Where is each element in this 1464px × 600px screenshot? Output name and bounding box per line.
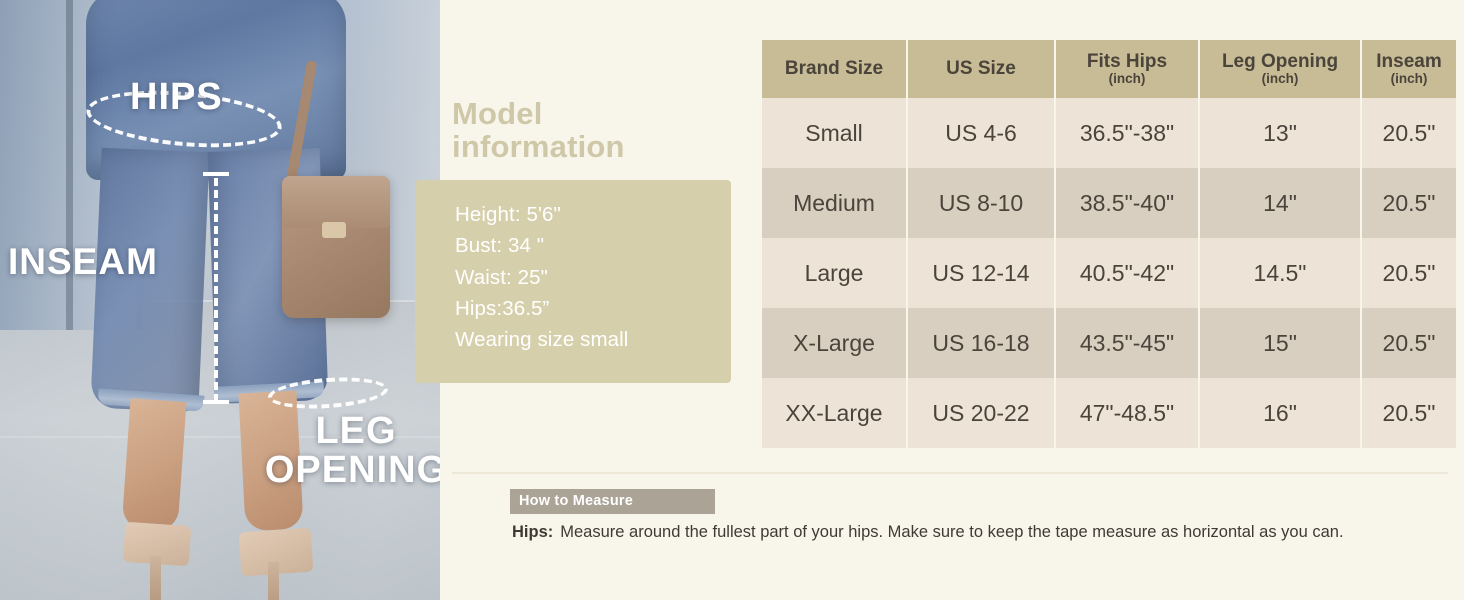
cell-inseam: 20.5": [1362, 308, 1456, 378]
hips-overlay-label: HIPS: [130, 78, 223, 117]
model-photo: HIPS INSEAM LEG OPENING: [0, 0, 440, 600]
how-to-measure-instruction: Hips:Measure around the fullest part of …: [512, 523, 1344, 542]
column-header-unit: (inch): [1202, 72, 1358, 87]
cell-us-size: US 8-10: [908, 168, 1054, 238]
model-detail-wearing-size: Wearing size small: [455, 324, 628, 355]
left-heel: [150, 556, 161, 600]
cell-fits-hips: 38.5"-40": [1056, 168, 1198, 238]
table-row: XX-Large US 20-22 47"-48.5" 16" 20.5": [762, 378, 1456, 448]
column-header-unit: (inch): [1364, 72, 1454, 87]
measure-label-hips: Hips:: [512, 523, 553, 541]
cell-us-size: US 16-18: [908, 308, 1054, 378]
model-detail-waist: Waist: 25": [455, 262, 628, 293]
leg-opening-overlay-label: LEG OPENING: [256, 412, 440, 490]
column-header-unit: (inch): [1058, 72, 1196, 87]
model-detail-bust: Bust: 34 ": [455, 230, 628, 261]
size-table: Brand Size US Size Fits Hips (inch) Leg …: [760, 40, 1458, 448]
model-detail-height: Height: 5'6": [455, 199, 628, 230]
model-information-list: Height: 5'6" Bust: 34 " Waist: 25" Hips:…: [455, 199, 628, 356]
model-information-heading: Model information: [452, 97, 712, 164]
table-row: Large US 12-14 40.5"-42" 14.5" 20.5": [762, 238, 1456, 308]
inseam-line-top-cap: [203, 172, 229, 176]
table-row: Medium US 8-10 38.5"-40" 14" 20.5": [762, 168, 1456, 238]
handbag-buckle: [322, 222, 346, 238]
cell-brand-size: Small: [762, 98, 906, 168]
column-header-title: Inseam: [1376, 51, 1441, 72]
cell-leg-opening: 14.5": [1200, 238, 1360, 308]
column-header-us-size: US Size: [908, 40, 1054, 98]
cell-leg-opening: 15": [1200, 308, 1360, 378]
cell-inseam: 20.5": [1362, 378, 1456, 448]
cell-leg-opening: 16": [1200, 378, 1360, 448]
handbag-flap: [282, 176, 390, 228]
cell-brand-size: Large: [762, 238, 906, 308]
cell-us-size: US 20-22: [908, 378, 1054, 448]
column-header-title: Fits Hips: [1087, 51, 1167, 72]
cell-inseam: 20.5": [1362, 98, 1456, 168]
column-header-fits-hips: Fits Hips (inch): [1056, 40, 1198, 98]
column-header-title: US Size: [946, 58, 1016, 79]
column-header-leg-opening: Leg Opening (inch): [1200, 40, 1360, 98]
table-row: X-Large US 16-18 43.5"-45" 15" 20.5": [762, 308, 1456, 378]
cell-us-size: US 12-14: [908, 238, 1054, 308]
inseam-overlay-label: INSEAM: [8, 243, 158, 281]
cell-fits-hips: 47"-48.5": [1056, 378, 1198, 448]
cell-fits-hips: 40.5"-42": [1056, 238, 1198, 308]
model-detail-hips: Hips:36.5”: [455, 293, 628, 324]
cell-inseam: 20.5": [1362, 168, 1456, 238]
column-header-title: Brand Size: [785, 58, 883, 79]
how-to-measure-badge: How to Measure: [510, 489, 715, 514]
left-calf: [122, 398, 187, 532]
inseam-line-bottom-cap: [203, 400, 229, 404]
cell-brand-size: XX-Large: [762, 378, 906, 448]
cell-us-size: US 4-6: [908, 98, 1054, 168]
cell-fits-hips: 43.5"-45": [1056, 308, 1198, 378]
table-header-row: Brand Size US Size Fits Hips (inch) Leg …: [762, 40, 1456, 98]
right-heel: [268, 562, 279, 600]
cell-leg-opening: 13": [1200, 98, 1360, 168]
cell-inseam: 20.5": [1362, 238, 1456, 308]
cell-brand-size: Medium: [762, 168, 906, 238]
column-header-brand-size: Brand Size: [762, 40, 906, 98]
footer-divider: [452, 472, 1448, 474]
inseam-measure-line: [214, 178, 218, 402]
size-chart-page: HIPS INSEAM LEG OPENING Model informatio…: [0, 0, 1464, 600]
column-header-inseam: Inseam (inch): [1362, 40, 1456, 98]
cell-fits-hips: 36.5"-38": [1056, 98, 1198, 168]
table-row: Small US 4-6 36.5"-38" 13" 20.5": [762, 98, 1456, 168]
cell-leg-opening: 14": [1200, 168, 1360, 238]
column-header-title: Leg Opening: [1222, 51, 1338, 72]
measure-instruction-text: Measure around the fullest part of your …: [560, 523, 1343, 541]
cell-brand-size: X-Large: [762, 308, 906, 378]
